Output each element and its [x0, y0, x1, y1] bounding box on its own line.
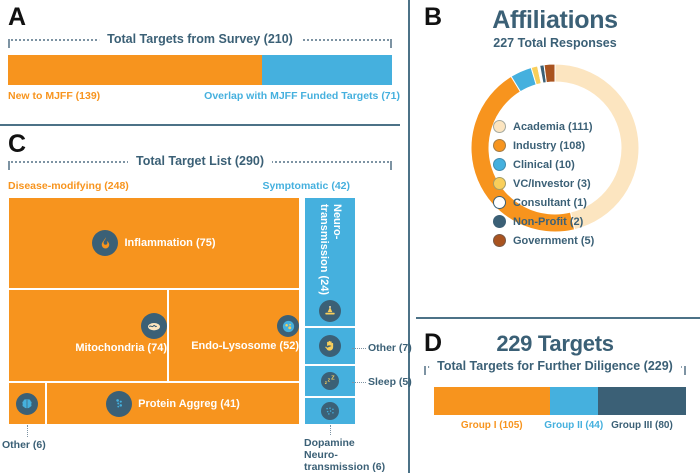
cell-content: Endo-Lysosome (52): [169, 290, 299, 381]
bracket-tick-right: [684, 366, 686, 375]
legend-swatch: [493, 215, 506, 228]
legend-label: Non-Profit (2): [513, 216, 583, 228]
legend-swatch: [493, 139, 506, 152]
panel-d-label-2: Group II (44): [544, 420, 603, 431]
legend-label: Clinical (10): [513, 159, 575, 171]
cell-label: Inflammation (75): [124, 237, 215, 249]
treemap-cell-neurotransmission[interactable]: transmission (24) Neuro-: [304, 197, 356, 327]
cell-content: [305, 328, 355, 364]
legend-row-2[interactable]: Industry (108): [493, 137, 663, 154]
affiliations-legend: Academia (111)Industry (108)Clinical (10…: [493, 118, 663, 251]
legend-row-6[interactable]: Non-Profit (2): [493, 213, 663, 230]
treemap: Inflammation (75) Mitochondria (74): [8, 197, 356, 425]
legend-label: Consultant (1): [513, 197, 587, 209]
legend-swatch: [493, 158, 506, 171]
panel-c-label-other-disease-modifying: Other (6): [2, 439, 46, 451]
cell-content: [305, 398, 355, 424]
panel-c-label-sleep: Sleep (5): [368, 376, 412, 388]
panel-d-labels: Group I (105)Group II (44)Group III (80): [434, 420, 686, 436]
panel-a-stacked-bar: [8, 55, 392, 85]
panel-d-title: 229 Targets: [410, 331, 700, 357]
svg-text:Z: Z: [331, 375, 335, 381]
legend-label: VC/Investor (3): [513, 178, 591, 190]
treemap-cell-inflammation[interactable]: Inflammation (75): [8, 197, 300, 289]
bar-segment-overlap: [262, 55, 392, 85]
bracket-tick-left: [8, 39, 10, 48]
leader-line-other-right: [352, 348, 366, 349]
panel-d: D 229 Targets Total Targets for Further …: [410, 317, 700, 473]
bracket-tick-right: [390, 161, 392, 170]
dopamine-label-line-2: Neuro-: [304, 449, 338, 461]
treemap-cell-other-disease-modifying[interactable]: [8, 382, 46, 425]
panel-c-bracket-label: Total Target List (290): [128, 154, 272, 168]
treemap-cell-mitochondria[interactable]: Mitochondria (74): [8, 289, 168, 382]
panel-a-label-right: Overlap with MJFF Funded Targets (71): [204, 90, 400, 102]
legend-swatch: [493, 120, 506, 133]
sleep-icon: z z Z: [321, 372, 339, 390]
legend-row-3[interactable]: Clinical (10): [493, 156, 663, 173]
panel-c-label-other-symptomatic: Other (7): [368, 342, 412, 354]
panel-b-title: Affiliations: [410, 6, 700, 35]
cell-content: z z Z: [305, 366, 355, 396]
panel-b-subtitle: 227 Total Responses: [410, 36, 700, 50]
dopamine-label-line-1: Dopamine: [304, 437, 355, 449]
bracket-tick-left: [8, 161, 10, 170]
panel-a-bracket-label: Total Targets from Survey (210): [99, 32, 301, 46]
donut-slice-government[interactable]: [544, 64, 555, 83]
bar-segment-group-iii: [598, 387, 686, 415]
bar-segment-group-ii: [550, 387, 598, 415]
treemap-cell-sleep[interactable]: z z Z: [304, 365, 356, 397]
panel-c-group-label-symptomatic: Symptomatic (42): [262, 180, 350, 192]
panel-a-label-left: New to MJFF (139): [8, 90, 100, 102]
treemap-group-disease-modifying: Inflammation (75) Mitochondria (74): [8, 197, 300, 425]
leader-line-sleep: [352, 382, 366, 383]
legend-row-5[interactable]: Consultant (1): [493, 194, 663, 211]
cell-content: Mitochondria (74): [9, 290, 167, 381]
mitochondria-icon: [141, 313, 167, 339]
treemap-cell-other-symptomatic[interactable]: [304, 327, 356, 365]
legend-label: Academia (111): [513, 121, 593, 133]
bar-segment-new-to-mjff: [8, 55, 262, 85]
panel-a-letter: A: [8, 5, 26, 30]
protein-icon: [106, 391, 132, 417]
dopamine-icon: [321, 402, 339, 420]
bar-segment-group-i: [434, 387, 550, 415]
cell-label: Mitochondria (74): [75, 342, 167, 354]
treemap-cell-protein-aggreg[interactable]: Protein Aggreg (41): [46, 382, 300, 425]
legend-swatch: [493, 177, 506, 190]
leader-line-dopamine: [330, 425, 331, 435]
bracket-tick-left: [424, 366, 426, 375]
cell-content: Protein Aggreg (41): [47, 383, 299, 424]
synapse-icon: [319, 300, 341, 322]
lysosome-icon: [277, 315, 299, 337]
legend-label: Government (5): [513, 235, 594, 247]
panel-b: B Affiliations 227 Total Responses Acade…: [410, 0, 700, 317]
treemap-cell-endo-lysosome[interactable]: Endo-Lysosome (52): [168, 289, 300, 382]
cell-content: [305, 198, 355, 326]
legend-label: Industry (108): [513, 140, 585, 152]
legend-row-4[interactable]: VC/Investor (3): [493, 175, 663, 192]
panel-d-bracket-label: Total Targets for Further Diligence (229…: [429, 359, 681, 373]
cell-content: [9, 383, 45, 424]
legend-row-1[interactable]: Academia (111): [493, 118, 663, 135]
legend-row-7[interactable]: Government (5): [493, 232, 663, 249]
cell-label: Endo-Lysosome (52): [191, 340, 299, 352]
leader-line-other-left: [27, 425, 28, 437]
treemap-group-symptomatic: transmission (24) Neuro-: [304, 197, 356, 425]
bracket-tick-right: [390, 39, 392, 48]
flame-icon: [92, 230, 118, 256]
panel-c-bracket: Total Target List (290): [8, 152, 392, 170]
treemap-cell-dopamine-neurotransmission[interactable]: [304, 397, 356, 425]
panel-c: C Total Target List (290) Disease-modify…: [0, 124, 408, 473]
panel-a: A Total Targets from Survey (210) New to…: [0, 0, 408, 124]
legend-swatch: [493, 234, 506, 247]
svg-text:z: z: [328, 378, 331, 384]
panel-d-stacked-bar: [434, 387, 686, 415]
panel-a-bracket: Total Targets from Survey (210): [8, 30, 392, 48]
hand-icon: [319, 335, 341, 357]
infographic-root: A Total Targets from Survey (210) New to…: [0, 0, 700, 473]
panel-d-label-1: Group I (105): [461, 420, 523, 431]
panel-d-label-3: Group III (80): [611, 420, 673, 431]
dopamine-label-line-3: transmission (6): [304, 461, 385, 473]
cell-label: Protein Aggreg (41): [138, 398, 240, 410]
legend-swatch: [493, 196, 506, 209]
panel-d-bracket: Total Targets for Further Diligence (229…: [424, 357, 686, 375]
brain-icon: [16, 393, 38, 415]
panel-c-label-dopamine: Dopamine Neuro- transmission (6): [304, 437, 385, 473]
cell-content: Inflammation (75): [9, 198, 299, 288]
panel-c-group-label-disease-modifying: Disease-modifying (248): [8, 180, 129, 192]
